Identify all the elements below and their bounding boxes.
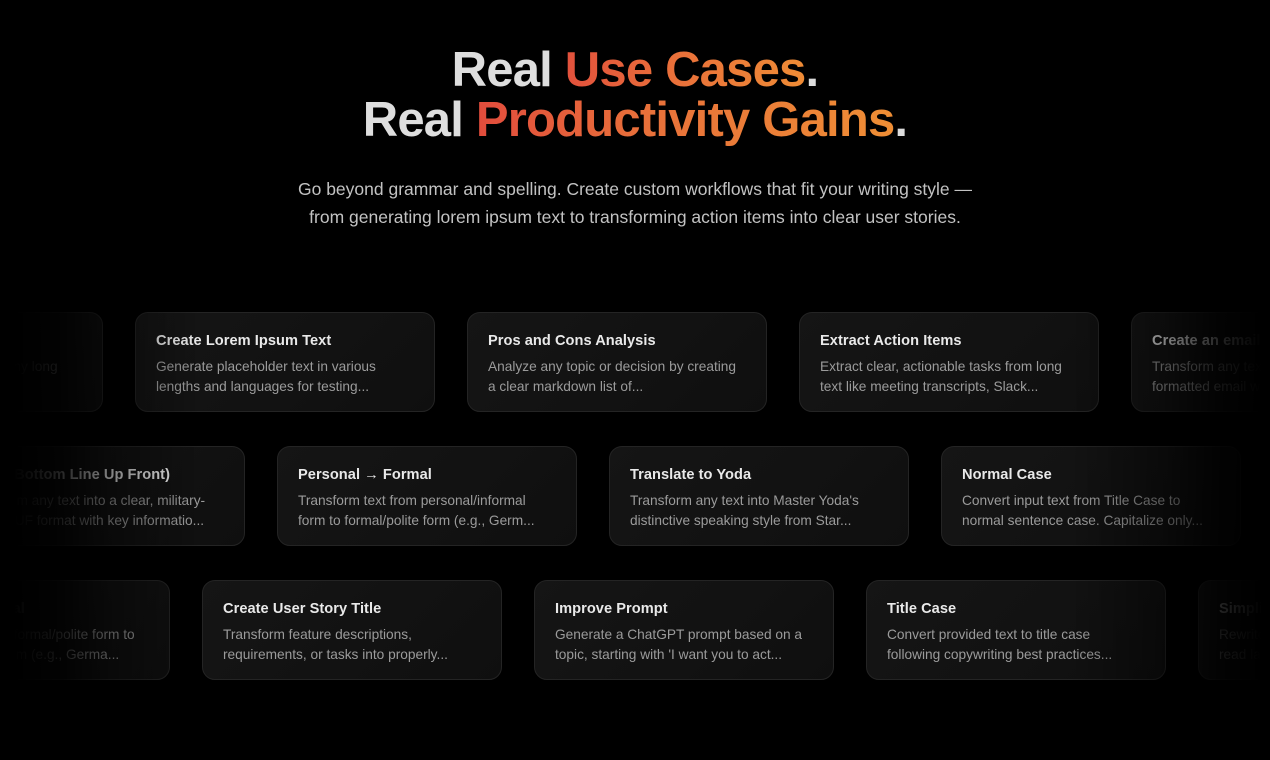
headline-line-1-accent: Use Cases	[565, 43, 806, 97]
use-case-card[interactable]: Personal → Formal Transform text from pe…	[277, 446, 577, 546]
use-case-row-2: BLUF (Bottom Line Up Front) Transform an…	[0, 446, 1270, 546]
card-title: Title Case	[887, 600, 1145, 618]
card-description: Transform text from formal/polite form t…	[0, 625, 149, 665]
card-description: Transform any text into a clear, militar…	[0, 491, 224, 531]
page-root: Real Use Cases. Real Productivity Gains.…	[0, 0, 1270, 760]
use-case-card[interactable]: Simplify Language Rewrite complex text i…	[1198, 580, 1270, 680]
headline-line-2-plain: Real	[363, 93, 476, 147]
card-title: Simplify Language	[1219, 600, 1270, 618]
use-case-row-1: Summarize Text Create a concise summary …	[0, 312, 1270, 412]
card-description: Create a concise summary of any long tex…	[0, 357, 82, 397]
page-title: Real Use Cases. Real Productivity Gains.	[0, 46, 1270, 145]
card-title: Translate to Yoda	[630, 466, 888, 484]
card-title: BLUF (Bottom Line Up Front)	[0, 466, 224, 484]
card-title: Summarize Text	[0, 332, 82, 350]
row-2-track[interactable]: BLUF (Bottom Line Up Front) Transform an…	[0, 446, 1270, 546]
use-case-card[interactable]: Create User Story Title Transform featur…	[202, 580, 502, 680]
page-subtitle: Go beyond grammar and spelling. Create c…	[0, 175, 1270, 231]
use-case-rows: Summarize Text Create a concise summary …	[0, 312, 1270, 680]
headline-line-2: Real Productivity Gains.	[0, 96, 1270, 145]
use-case-card[interactable]: Translate to Yoda Transform any text int…	[609, 446, 909, 546]
card-description: Transform text from personal/informal fo…	[298, 491, 556, 531]
headline-line-1-plain: Real	[452, 43, 565, 97]
headline-line-1: Real Use Cases.	[0, 46, 1270, 95]
card-title: Personal → Formal	[298, 466, 556, 484]
headline-line-2-accent: Productivity Gains	[476, 93, 895, 147]
headline-line-1-dot: .	[806, 43, 819, 97]
use-case-card[interactable]: Title Case Convert provided text to titl…	[866, 580, 1166, 680]
card-description: Extract clear, actionable tasks from lon…	[820, 357, 1078, 397]
card-description: Transform feature descriptions, requirem…	[223, 625, 481, 665]
use-case-card[interactable]: Pros and Cons Analysis Analyze any topic…	[467, 312, 767, 412]
card-title: Normal Case	[962, 466, 1220, 484]
use-case-row-3: Formal → Personal Transform text from fo…	[0, 580, 1270, 680]
row-1-track[interactable]: Summarize Text Create a concise summary …	[0, 312, 1270, 412]
subtitle-line-2: from generating lorem ipsum text to tran…	[0, 203, 1270, 231]
use-case-card[interactable]: Create Lorem Ipsum Text Generate placeho…	[135, 312, 435, 412]
card-description: Transform any text into Master Yoda's di…	[630, 491, 888, 531]
use-case-card[interactable]: Improve Prompt Generate a ChatGPT prompt…	[534, 580, 834, 680]
card-description: Rewrite complex text into plain, easy to…	[1219, 625, 1270, 665]
card-title: Pros and Cons Analysis	[488, 332, 746, 350]
use-case-card[interactable]: BLUF (Bottom Line Up Front) Transform an…	[0, 446, 245, 546]
use-case-card[interactable]: Formal → Personal Transform text from fo…	[0, 580, 170, 680]
use-case-card[interactable]: Extract Action Items Extract clear, acti…	[799, 312, 1099, 412]
row-3-track[interactable]: Formal → Personal Transform text from fo…	[0, 580, 1270, 680]
card-title: Create an email	[1152, 332, 1270, 350]
card-title: Improve Prompt	[555, 600, 813, 618]
use-case-card[interactable]: Create an email Transform any text into …	[1131, 312, 1270, 412]
card-description: Transform any text into a properly forma…	[1152, 357, 1270, 397]
card-description: Generate a ChatGPT prompt based on a top…	[555, 625, 813, 665]
card-title: Extract Action Items	[820, 332, 1078, 350]
card-title: Create Lorem Ipsum Text	[156, 332, 414, 350]
card-title: Formal → Personal	[0, 600, 149, 618]
headline-line-2-dot: .	[894, 93, 907, 147]
card-title: Create User Story Title	[223, 600, 481, 618]
card-description: Convert input text from Title Case to no…	[962, 491, 1220, 531]
card-description: Convert provided text to title case foll…	[887, 625, 1145, 665]
use-case-card[interactable]: Normal Case Convert input text from Titl…	[941, 446, 1241, 546]
hero-section: Real Use Cases. Real Productivity Gains.…	[0, 0, 1270, 231]
use-case-card[interactable]: Summarize Text Create a concise summary …	[0, 312, 103, 412]
subtitle-line-1: Go beyond grammar and spelling. Create c…	[0, 175, 1270, 203]
card-description: Analyze any topic or decision by creatin…	[488, 357, 746, 397]
card-description: Generate placeholder text in various len…	[156, 357, 414, 397]
